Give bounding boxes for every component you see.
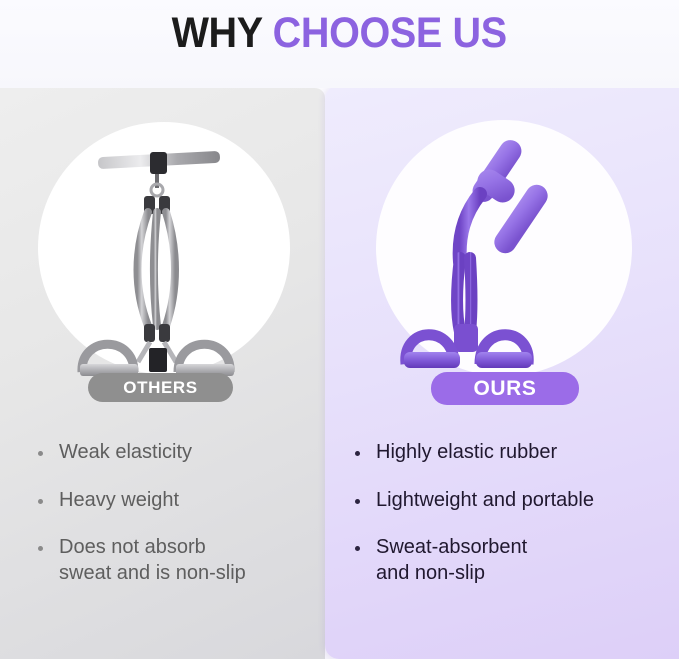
list-item-label: Heavy weight — [59, 488, 179, 514]
comparison-infographic: WHY CHOOSE US — [0, 0, 679, 659]
list-item-label: Lightweight and portable — [376, 488, 594, 514]
bullet-dot-icon — [355, 499, 360, 504]
bullet-dot-icon — [355, 451, 360, 456]
list-item: Heavy weight — [38, 488, 308, 514]
bullet-dot-icon — [38, 499, 43, 504]
list-item: Sweat-absorbentand non-slip — [355, 535, 665, 586]
list-item-label: Highly elastic rubber — [376, 440, 557, 466]
others-feature-list: Weak elasticity Heavy weight Does not ab… — [38, 440, 308, 608]
bullet-dot-icon — [38, 451, 43, 456]
ours-badge-label: OURS — [473, 377, 536, 401]
others-badge-label: OTHERS — [123, 378, 197, 398]
page-title-accent-part: CHOOSE US — [273, 9, 507, 57]
header-bar: WHY CHOOSE US — [0, 0, 679, 88]
ours-feature-list: Highly elastic rubber Lightweight and po… — [355, 440, 665, 608]
others-badge: OTHERS — [88, 373, 233, 402]
page-title-dark-part: WHY — [172, 9, 273, 57]
list-item: Highly elastic rubber — [355, 440, 665, 466]
list-item: Weak elasticity — [38, 440, 308, 466]
page-title: WHY CHOOSE US — [172, 12, 507, 55]
ours-badge: OURS — [431, 372, 579, 405]
list-item-label: Does not absorbsweat and is non-slip — [59, 535, 246, 586]
list-item: Lightweight and portable — [355, 488, 665, 514]
others-product-image — [60, 140, 270, 380]
list-item-label: Sweat-absorbentand non-slip — [376, 535, 527, 586]
bullet-dot-icon — [38, 546, 43, 551]
list-item-label: Weak elasticity — [59, 440, 192, 466]
ours-product-image — [398, 128, 613, 378]
bullet-dot-icon — [355, 546, 360, 551]
list-item: Does not absorbsweat and is non-slip — [38, 535, 308, 586]
